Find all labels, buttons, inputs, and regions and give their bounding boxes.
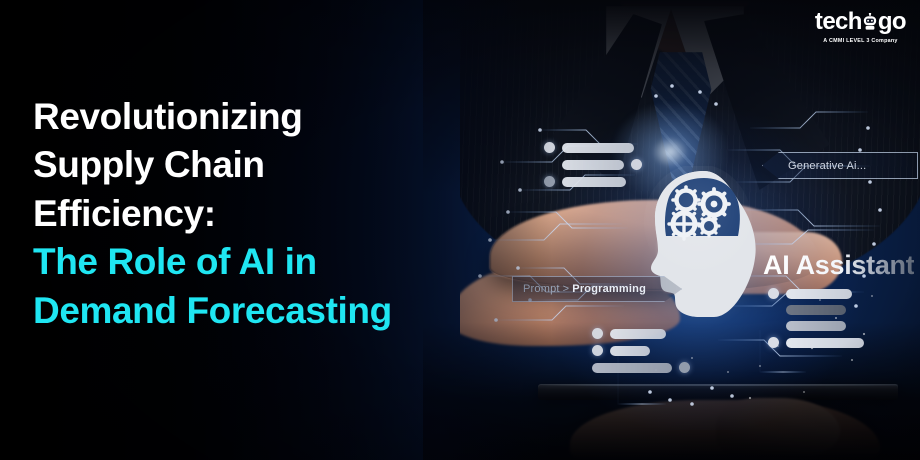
- headline-line-5: Demand Forecasting: [33, 287, 463, 335]
- headline-line-1: Revolutionizing: [33, 93, 463, 141]
- page-title: Revolutionizing Supply Chain Efficiency:…: [33, 93, 463, 335]
- robot-head-icon: [863, 11, 877, 28]
- logo-wordmark: tech go: [815, 10, 906, 34]
- headline-line-2: Supply Chain: [33, 141, 463, 189]
- headline-line-3: Efficiency:: [33, 190, 463, 238]
- blog-banner: Generative Ai... Prompt > Programming AI…: [0, 0, 920, 460]
- logo-word-part-2: go: [878, 10, 906, 34]
- logo-tagline: A CMMI LEVEL 3 Company: [815, 38, 906, 44]
- headline-line-4: The Role of AI in: [33, 238, 463, 286]
- techugo-logo[interactable]: tech go A CMMI LEVEL 3 Company: [815, 10, 906, 44]
- logo-word-part-1: tech: [815, 10, 862, 34]
